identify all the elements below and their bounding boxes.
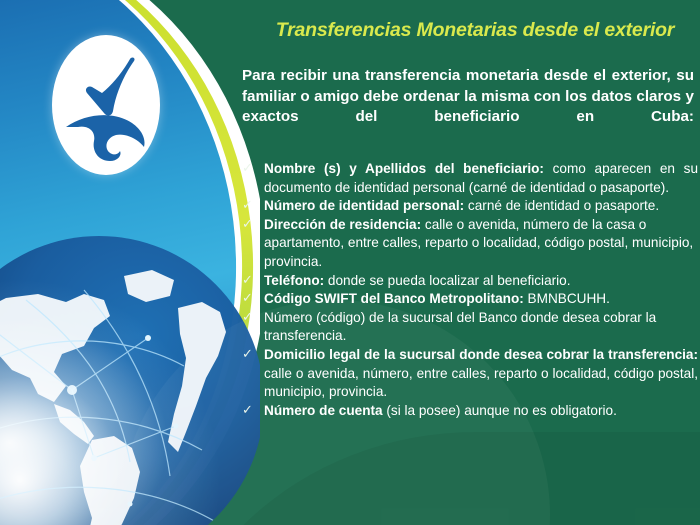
list-item-lead: Nombre (s) y Apellidos del beneficiario: [264, 161, 544, 176]
check-icon: ✓ [242, 271, 253, 290]
list-item-lead: Dirección de residencia: [264, 217, 421, 232]
list-item-text: Número de identidad personal: carné de i… [264, 197, 698, 216]
list-item: ✓ Número de cuenta (si la posee) aunque … [240, 402, 698, 421]
bird-wave-logo [52, 35, 160, 175]
list-item: ✓ Código SWIFT del Banco Metropolitano: … [240, 290, 698, 309]
left-graphic-panel [0, 0, 260, 525]
list-item: ✓ Teléfono: donde se pueda localizar al … [240, 272, 698, 291]
check-icon: ✓ [242, 345, 253, 364]
check-icon: ✓ [242, 215, 253, 234]
list-item-lead: Número de identidad personal: [264, 198, 464, 213]
list-item-text: Número (código) de la sucursal del Banco… [264, 309, 698, 346]
list-item-lead: Domicilio legal de la sucursal donde des… [264, 347, 698, 362]
list-item-lead: Número de cuenta [264, 403, 383, 418]
list-item: ✓ Domicilio legal de la sucursal donde d… [240, 346, 698, 402]
list-item: ✓ Número (código) de la sucursal del Ban… [240, 309, 698, 346]
list-item: ✓ Dirección de residencia: calle o aveni… [240, 216, 698, 272]
requirements-list: ✓ Nombre (s) y Apellidos del beneficiari… [240, 160, 698, 420]
list-item-rest: donde se pueda localizar al beneficiario… [324, 273, 570, 288]
check-icon: ✓ [242, 401, 253, 420]
check-icon: ✓ [242, 196, 253, 215]
list-item-lead: Código SWIFT del Banco Metropolitano: [264, 291, 524, 306]
content-area: Transferencias Monetarias desde el exter… [236, 0, 700, 525]
world-network-globe [0, 236, 260, 525]
check-icon: ✓ [242, 289, 253, 308]
list-item-text: Nombre (s) y Apellidos del beneficiario:… [264, 160, 698, 197]
check-icon: ✓ [242, 159, 253, 178]
list-item-text: Domicilio legal de la sucursal donde des… [264, 346, 698, 402]
list-item-text: Teléfono: donde se pueda localizar al be… [264, 272, 698, 291]
list-item-rest: Número (código) de la sucursal del Banco… [264, 310, 656, 344]
list-item-rest: calle o avenida, número, entre calles, r… [264, 366, 698, 400]
page-title: Transferencias Monetarias desde el exter… [250, 19, 700, 42]
intro-paragraph: Para recibir una transferencia monetaria… [242, 66, 694, 128]
list-item-text: Dirección de residencia: calle o avenida… [264, 216, 698, 272]
list-item-rest: carné de identidad o pasaporte. [464, 198, 659, 213]
list-item-text: Número de cuenta (si la posee) aunque no… [264, 402, 698, 421]
list-item-lead: Teléfono: [264, 273, 324, 288]
list-item: ✓ Nombre (s) y Apellidos del beneficiari… [240, 160, 698, 197]
poster-root: Transferencias Monetarias desde el exter… [0, 0, 700, 525]
list-item-rest: (si la posee) aunque no es obligatorio. [383, 403, 617, 418]
list-item: ✓ Número de identidad personal: carné de… [240, 197, 698, 216]
list-item-rest: BMNBCUHH. [524, 291, 610, 306]
list-item-text: Código SWIFT del Banco Metropolitano: BM… [264, 290, 698, 309]
check-icon: ✓ [242, 308, 253, 327]
